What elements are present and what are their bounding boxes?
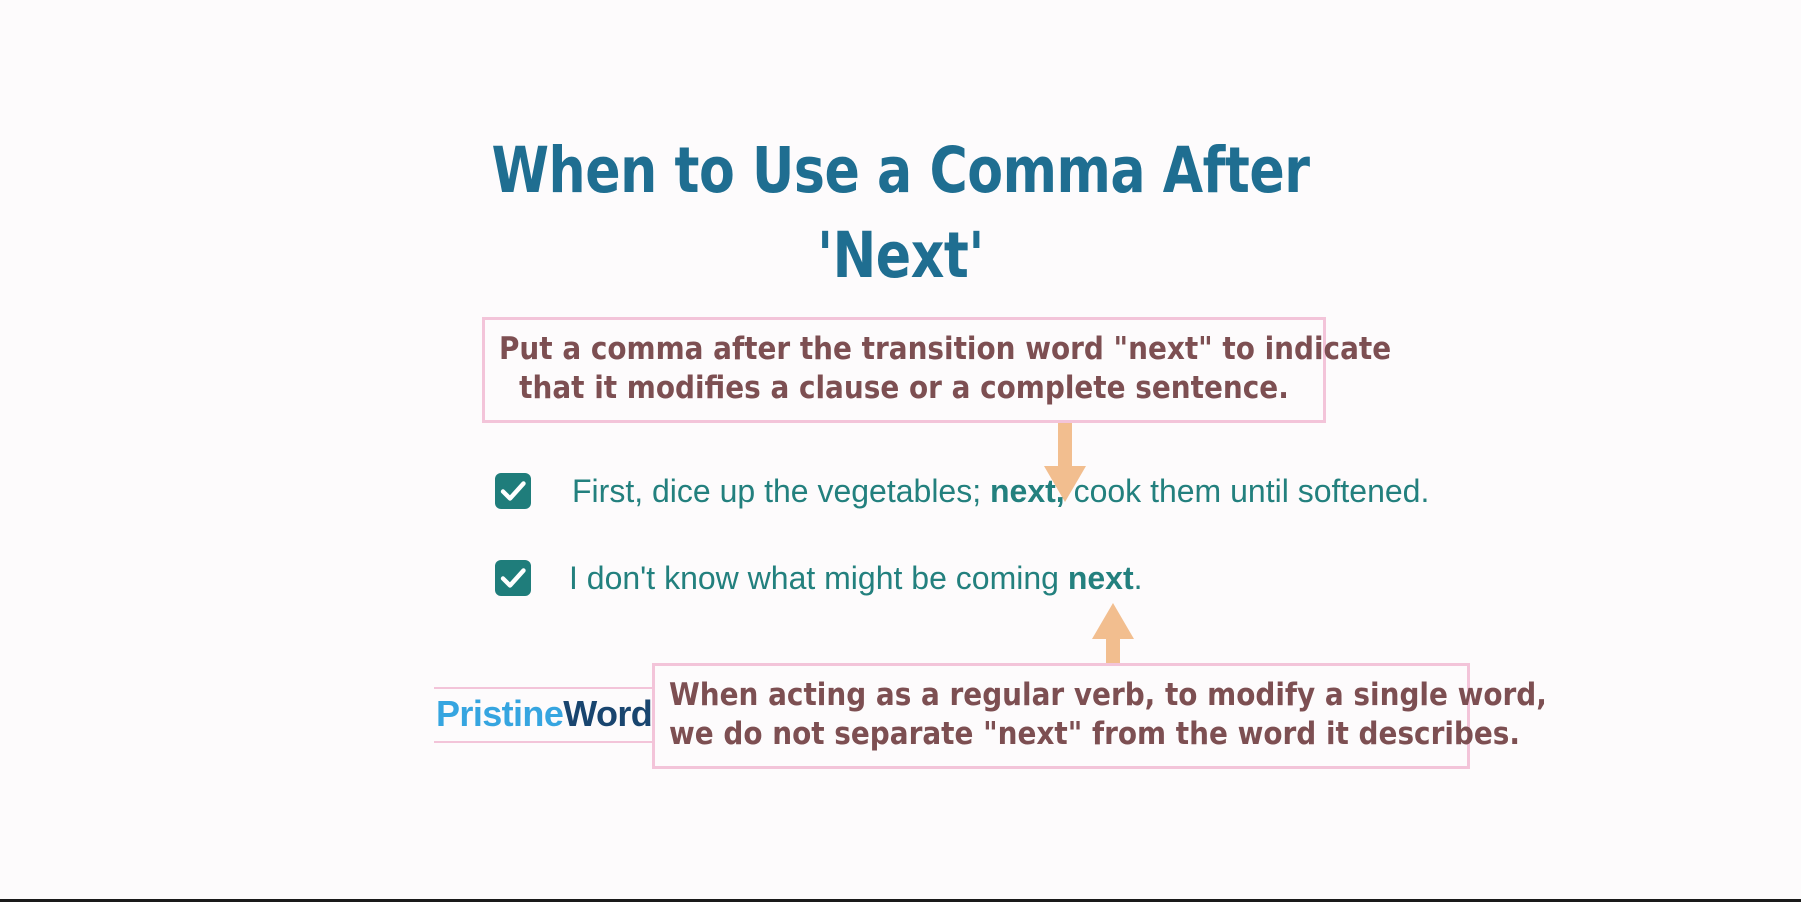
- callout-bottom-line-1: When acting as a regular verb, to modify…: [669, 676, 1453, 715]
- checkmark-box-icon: [494, 472, 532, 510]
- brand-logo-part-1: Pristine: [436, 693, 563, 734]
- example-1-text: First, dice up the vegetables; next, coo…: [572, 471, 1429, 511]
- brand-logo-part-2: Word: [563, 693, 652, 734]
- page-title: When to Use a Comma After 'Next': [72, 128, 1729, 298]
- page-title-line-1: When to Use a Comma After: [72, 128, 1729, 213]
- example-1-after: cook them until softened.: [1065, 473, 1430, 509]
- callout-bottom-rule: When acting as a regular verb, to modify…: [652, 663, 1470, 769]
- brand-logo[interactable]: PristineWord: [434, 687, 654, 743]
- example-1-keyword: next,: [990, 473, 1065, 509]
- callout-top-line-1: Put a comma after the transition word "n…: [499, 330, 1309, 369]
- example-item-1: First, dice up the vegetables; next, coo…: [494, 471, 1429, 511]
- callout-bottom-line-2: we do not separate "next" from the word …: [669, 715, 1453, 754]
- example-2-before: I don't know what might be coming: [569, 560, 1068, 596]
- callout-top-rule: Put a comma after the transition word "n…: [482, 317, 1326, 423]
- example-item-2: I don't know what might be coming next.: [494, 558, 1143, 598]
- callout-top-line-2: that it modifies a clause or a complete …: [499, 369, 1309, 408]
- checkmark-box-icon: [494, 559, 532, 597]
- example-1-before: First, dice up the vegetables;: [572, 473, 990, 509]
- example-2-keyword: next: [1068, 560, 1134, 596]
- page-title-line-2: 'Next': [72, 213, 1729, 298]
- example-2-after: .: [1134, 560, 1143, 596]
- slide-canvas: When to Use a Comma After 'Next' Put a c…: [0, 0, 1801, 899]
- example-2-text: I don't know what might be coming next.: [569, 558, 1143, 598]
